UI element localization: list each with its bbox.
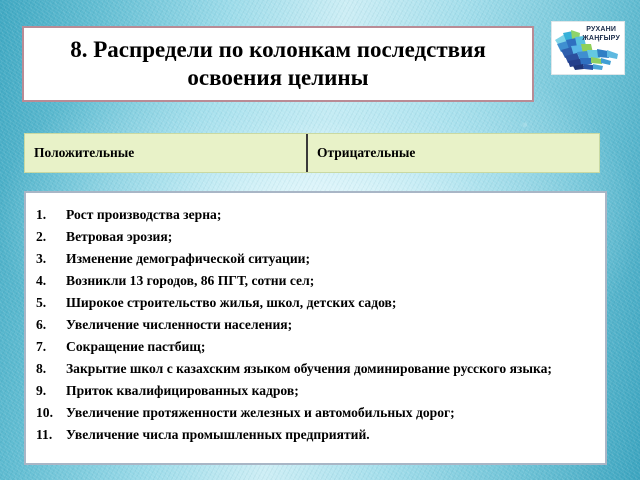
- title-box: 8. Распредели по колонкам последствия ос…: [22, 26, 534, 102]
- list-item-label: Широкое строительство жилья, школ, детск…: [66, 292, 597, 314]
- list-item: 10.Увеличение протяженности железных и а…: [36, 402, 597, 424]
- list-item: 8.Закрытие школ с казахским языком обуче…: [36, 358, 597, 380]
- list-item-label: Изменение демографической ситуации;: [66, 248, 597, 270]
- list-item-label: Закрытие школ с казахским языком обучени…: [66, 358, 597, 380]
- list-item-number: 1.: [36, 204, 66, 226]
- list-item-label: Возникли 13 городов, 86 ПГТ, сотни сел;: [66, 270, 597, 292]
- page-title: 8. Распредели по колонкам последствия ос…: [24, 36, 532, 92]
- column-header-negative: Отрицательные: [306, 134, 599, 172]
- list-item: 1.Рост производства зерна;: [36, 204, 597, 226]
- list-item-number: 9.: [36, 380, 66, 402]
- list-item: 2.Ветровая эрозия;: [36, 226, 597, 248]
- list-item-number: 2.: [36, 226, 66, 248]
- list-item-label: Увеличение протяженности железных и авто…: [66, 402, 597, 424]
- list-item-label: Ветровая эрозия;: [66, 226, 597, 248]
- list-item-number: 6.: [36, 314, 66, 336]
- list-item: 9.Приток квалифицированных кадров;: [36, 380, 597, 402]
- list-item-label: Рост производства зерна;: [66, 204, 597, 226]
- list-item-label: Увеличение численности населения;: [66, 314, 597, 336]
- list-item-number: 5.: [36, 292, 66, 314]
- list-item: 4.Возникли 13 городов, 86 ПГТ, сотни сел…: [36, 270, 597, 292]
- list-item-number: 7.: [36, 336, 66, 358]
- list-item-number: 4.: [36, 270, 66, 292]
- list-item-number: 8.: [36, 358, 66, 380]
- slide-canvas: 8. Распредели по колонкам последствия ос…: [0, 0, 640, 480]
- list-item: 11.Увеличение числа промышленных предпри…: [36, 424, 597, 446]
- columns-header-table: Положительные Отрицательные: [24, 133, 600, 173]
- consequences-list: 1.Рост производства зерна; 2.Ветровая эр…: [36, 204, 597, 446]
- list-item-number: 11.: [36, 424, 66, 446]
- list-item: 5.Широкое строительство жилья, школ, дет…: [36, 292, 597, 314]
- list-item-label: Увеличение числа промышленных предприяти…: [66, 424, 597, 446]
- list-item: 7.Сокращение пастбищ;: [36, 336, 597, 358]
- list-item: 3.Изменение демографической ситуации;: [36, 248, 597, 270]
- list-item-number: 3.: [36, 248, 66, 270]
- column-header-positive: Положительные: [25, 134, 306, 172]
- list-item-label: Сокращение пастбищ;: [66, 336, 597, 358]
- list-item: 6.Увеличение численности населения;: [36, 314, 597, 336]
- list-item-label: Приток квалифицированных кадров;: [66, 380, 597, 402]
- ruhani-zhangyru-logo: РУХАНИ ЖАҢҒЫРУ: [551, 21, 625, 75]
- logo-text: РУХАНИ ЖАҢҒЫРУ: [582, 26, 620, 44]
- consequences-list-box: 1.Рост производства зерна; 2.Ветровая эр…: [24, 191, 607, 465]
- list-item-number: 10.: [36, 402, 66, 424]
